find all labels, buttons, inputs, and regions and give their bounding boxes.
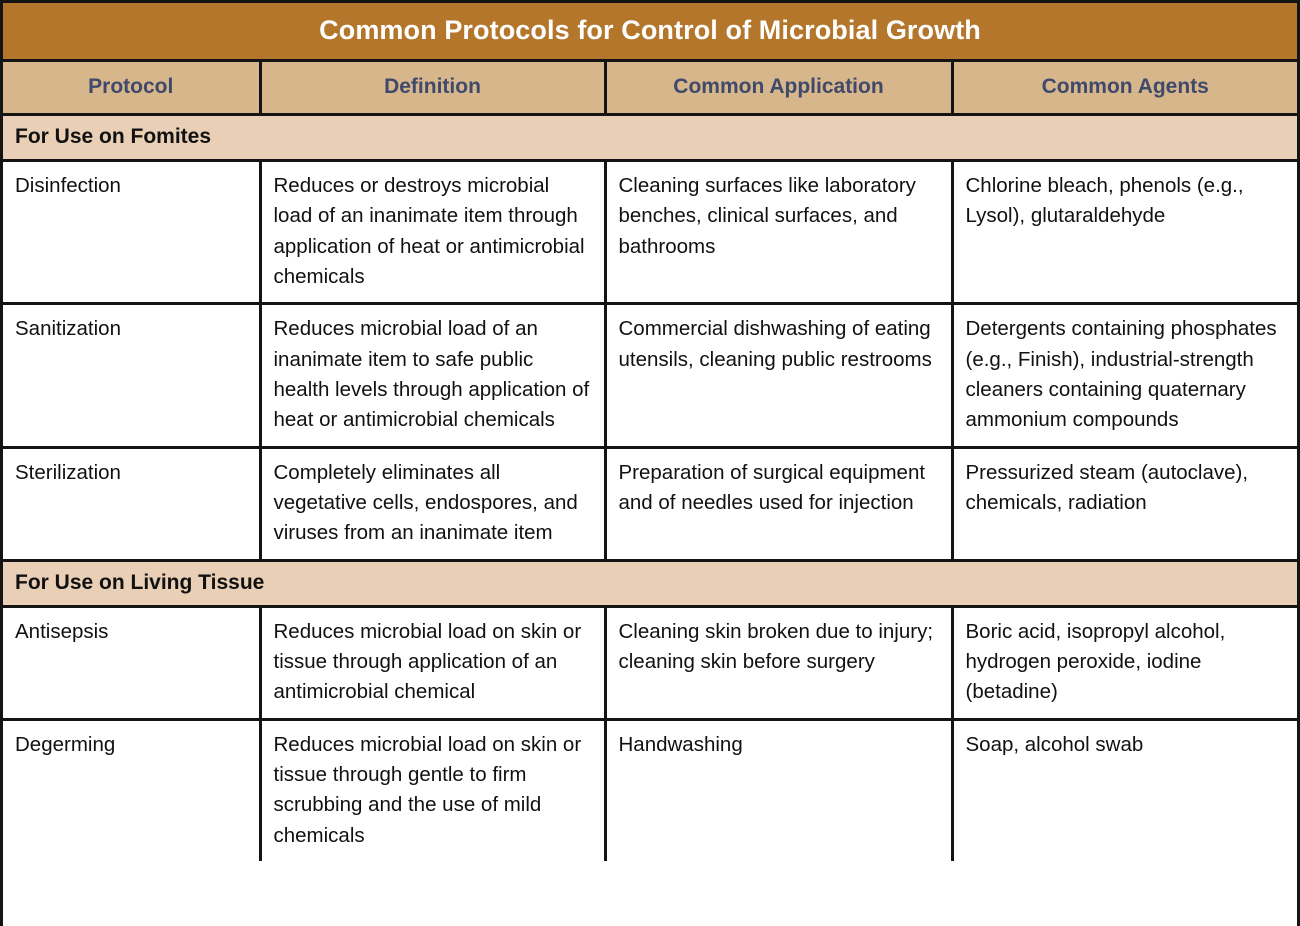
cell-common-agents: Boric acid, isopropyl alcohol, hydrogen … (952, 606, 1297, 719)
column-header-row: Protocol Definition Common Application C… (3, 61, 1297, 115)
table-title: Common Protocols for Control of Microbia… (3, 3, 1297, 61)
cell-definition: Reduces microbial load of an inanimate i… (260, 304, 605, 447)
section-header-row: For Use on Living Tissue (3, 560, 1297, 606)
cell-common-application: Handwashing (605, 719, 952, 861)
column-header-common-application: Common Application (605, 61, 952, 115)
cell-protocol: Sterilization (3, 447, 260, 560)
table-body: For Use on Fomites Disinfection Reduces … (3, 115, 1297, 861)
cell-definition: Completely eliminates all vegetative cel… (260, 447, 605, 560)
cell-protocol: Degerming (3, 719, 260, 861)
table-row: Degerming Reduces microbial load on skin… (3, 719, 1297, 861)
column-header-protocol: Protocol (3, 61, 260, 115)
cell-protocol: Antisepsis (3, 606, 260, 719)
cell-common-application: Commercial dishwashing of eating utensil… (605, 304, 952, 447)
protocols-table-container: Common Protocols for Control of Microbia… (0, 0, 1300, 926)
cell-definition: Reduces or destroys microbial load of an… (260, 161, 605, 304)
cell-common-agents: Detergents containing phosphates (e.g., … (952, 304, 1297, 447)
cell-common-application: Cleaning surfaces like laboratory benche… (605, 161, 952, 304)
section-header-fomites: For Use on Fomites (3, 115, 1297, 161)
table-row: Sanitization Reduces microbial load of a… (3, 304, 1297, 447)
cell-common-agents: Pressurized steam (autoclave), chemicals… (952, 447, 1297, 560)
table-title-row: Common Protocols for Control of Microbia… (3, 3, 1297, 61)
cell-common-application: Cleaning skin broken due to injury; clea… (605, 606, 952, 719)
section-header-living-tissue: For Use on Living Tissue (3, 560, 1297, 606)
protocols-table: Common Protocols for Control of Microbia… (3, 3, 1297, 861)
cell-definition: Reduces microbial load on skin or tissue… (260, 606, 605, 719)
cell-common-agents: Soap, alcohol swab (952, 719, 1297, 861)
table-row: Antisepsis Reduces microbial load on ski… (3, 606, 1297, 719)
column-header-definition: Definition (260, 61, 605, 115)
cell-common-application: Preparation of surgical equipment and of… (605, 447, 952, 560)
cell-protocol: Sanitization (3, 304, 260, 447)
cell-protocol: Disinfection (3, 161, 260, 304)
section-header-row: For Use on Fomites (3, 115, 1297, 161)
table-row: Disinfection Reduces or destroys microbi… (3, 161, 1297, 304)
table-header: Common Protocols for Control of Microbia… (3, 3, 1297, 115)
cell-common-agents: Chlorine bleach, phenols (e.g., Lysol), … (952, 161, 1297, 304)
table-row: Sterilization Completely eliminates all … (3, 447, 1297, 560)
cell-definition: Reduces microbial load on skin or tissue… (260, 719, 605, 861)
column-header-common-agents: Common Agents (952, 61, 1297, 115)
